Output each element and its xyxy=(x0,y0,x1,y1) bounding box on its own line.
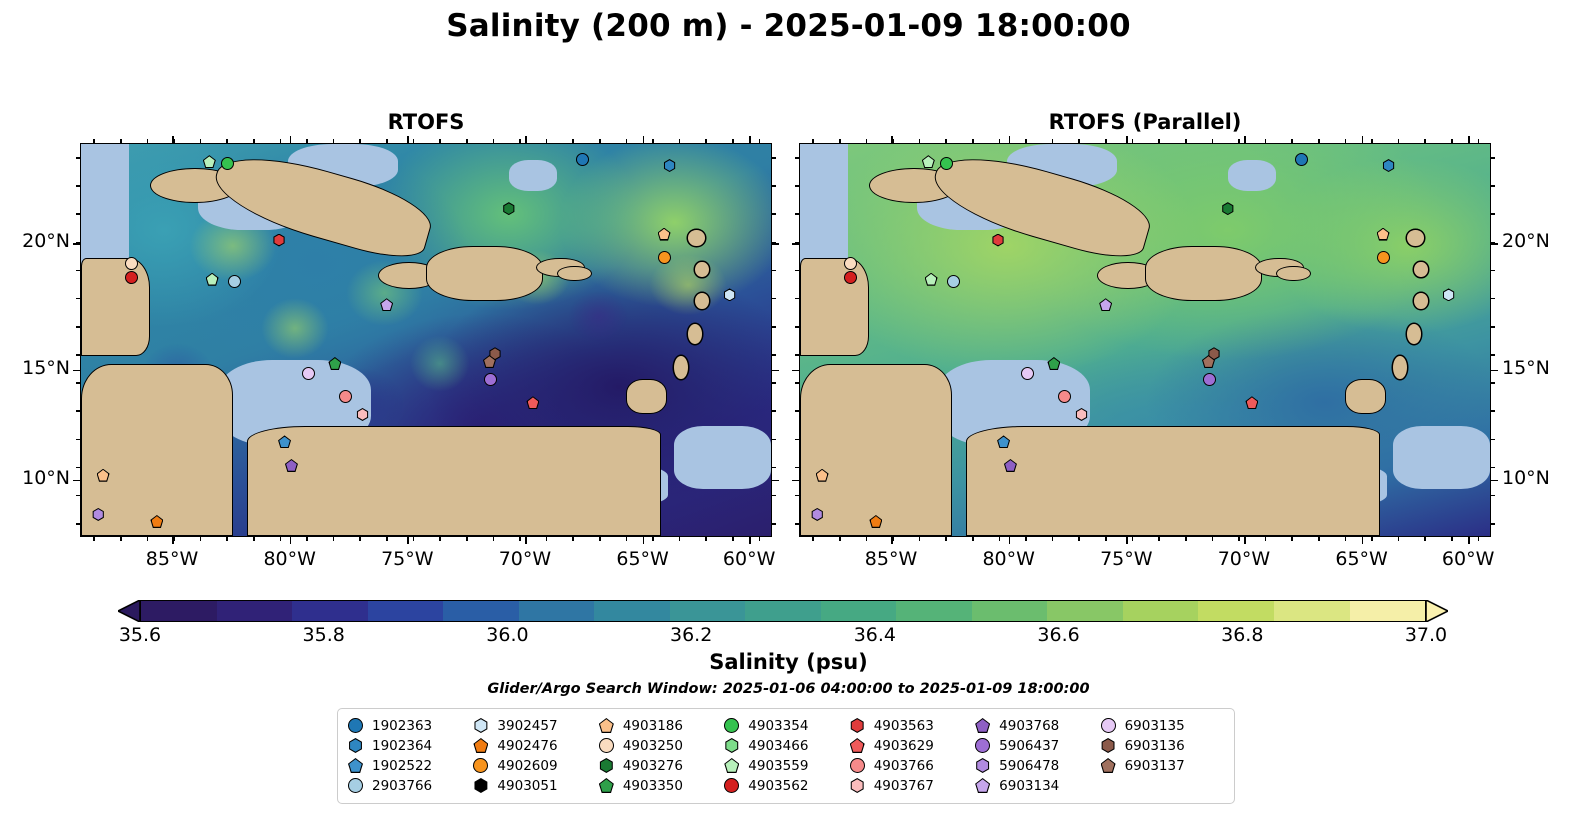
float-marker[interactable] xyxy=(125,271,138,284)
colorbar-tick-label: 36.2 xyxy=(651,624,731,646)
float-marker[interactable] xyxy=(997,435,1010,448)
x-minor-tick xyxy=(1318,139,1320,143)
y-tick xyxy=(73,480,80,482)
x-tick xyxy=(749,136,751,143)
x-tick xyxy=(1244,537,1246,544)
float-marker[interactable] xyxy=(816,469,829,482)
y-tick xyxy=(73,370,80,372)
search-window-caption: Glider/Argo Search Window: 2025-01-06 04… xyxy=(0,681,1577,697)
x-minor-tick xyxy=(1265,139,1267,143)
x-tick xyxy=(1468,537,1470,544)
marker-circle-icon xyxy=(1021,367,1034,380)
x-minor-tick xyxy=(652,537,654,541)
legend-item[interactable]: 4903276 xyxy=(599,756,722,775)
float-marker[interactable] xyxy=(273,234,286,247)
x-minor-tick xyxy=(439,537,441,541)
colorbar-swatch-0 xyxy=(141,601,217,621)
y-minor-tick xyxy=(1491,382,1495,384)
x-minor-tick xyxy=(1398,139,1400,143)
x-tick xyxy=(407,537,409,544)
legend-item[interactable]: 4903629 xyxy=(850,736,973,755)
float-marker[interactable] xyxy=(328,357,341,370)
marker-circle-icon xyxy=(1295,153,1308,166)
marker-pent-icon xyxy=(1203,356,1214,367)
x-minor-tick xyxy=(572,139,574,143)
legend-item[interactable]: 2903766 xyxy=(348,776,471,795)
legend-marker-circle-icon xyxy=(850,758,865,773)
x-minor-tick xyxy=(1078,537,1080,541)
x-tick xyxy=(1009,537,1011,544)
x-minor-tick xyxy=(732,537,734,541)
y-minor-tick xyxy=(76,298,80,300)
legend-item[interactable]: 4903186 xyxy=(599,716,722,735)
x-minor-tick xyxy=(386,139,388,143)
float-marker[interactable] xyxy=(92,508,105,521)
colorbar-tick-label: 36.6 xyxy=(1019,624,1099,646)
x-minor-tick xyxy=(626,139,628,143)
colorbar-extend-high xyxy=(1426,600,1448,622)
float-marker[interactable] xyxy=(947,275,960,288)
legend-marker-hex-icon xyxy=(1101,738,1116,753)
x-minor-tick xyxy=(945,139,947,143)
float-marker[interactable] xyxy=(228,275,241,288)
legend-label: 5906478 xyxy=(999,758,1059,774)
float-marker[interactable] xyxy=(203,155,216,168)
float-marker[interactable] xyxy=(576,153,589,166)
y-minor-tick xyxy=(772,354,776,356)
x-minor-tick xyxy=(200,139,202,143)
legend-item[interactable]: 5906478 xyxy=(975,756,1098,775)
y-minor-tick xyxy=(1491,495,1495,497)
legend-marker-circle-icon xyxy=(473,758,488,773)
y-minor-tick xyxy=(1491,270,1495,272)
float-marker[interactable] xyxy=(206,273,219,286)
x-minor-tick xyxy=(306,139,308,143)
float-marker[interactable] xyxy=(1442,288,1455,301)
legend-item[interactable]: 4903350 xyxy=(599,776,722,795)
marker-circle-icon xyxy=(576,153,589,166)
colorbar-tick-label: 36.0 xyxy=(467,624,547,646)
marker-circle-icon xyxy=(302,367,315,380)
x-minor-tick xyxy=(812,139,814,143)
x-minor-tick xyxy=(1025,537,1027,541)
x-minor-tick xyxy=(1345,139,1347,143)
float-marker[interactable] xyxy=(1382,159,1395,172)
x-minor-tick xyxy=(1105,139,1107,143)
x-minor-tick xyxy=(413,537,415,541)
y-tick xyxy=(1491,370,1498,372)
x-minor-tick xyxy=(1078,139,1080,143)
float-marker[interactable] xyxy=(221,157,234,170)
float-marker[interactable] xyxy=(1004,459,1017,472)
panel-title-right: RTOFS (Parallel) xyxy=(799,110,1491,134)
x-minor-tick xyxy=(280,537,282,541)
marker-pent-icon xyxy=(1100,299,1111,310)
x-minor-tick xyxy=(1158,139,1160,143)
legend-label: 4903276 xyxy=(623,758,683,774)
y-minor-tick xyxy=(76,495,80,497)
legend-item[interactable]: 4903466 xyxy=(724,736,847,755)
float-marker[interactable] xyxy=(1047,357,1060,370)
legend-marker-circle-icon xyxy=(599,738,614,753)
y-tick-label: 10°N xyxy=(0,467,70,489)
x-minor-tick xyxy=(572,537,574,541)
legend-label: 1902363 xyxy=(372,718,432,734)
y-minor-tick xyxy=(1491,157,1495,159)
legend-item[interactable]: 6903134 xyxy=(975,776,1098,795)
legend-item[interactable]: 4902609 xyxy=(473,756,596,775)
colorbar-swatch-1 xyxy=(217,601,293,621)
x-minor-tick xyxy=(333,537,335,541)
y-minor-tick xyxy=(795,354,799,356)
float-marker[interactable] xyxy=(663,159,676,172)
x-minor-tick xyxy=(359,139,361,143)
colorbar-tick-label: 35.8 xyxy=(284,624,364,646)
x-tick xyxy=(1244,136,1246,143)
legend-label: 6903135 xyxy=(1125,718,1185,734)
legend-item[interactable]: 1902364 xyxy=(348,736,471,755)
float-marker-layer-left xyxy=(81,144,771,536)
float-marker[interactable] xyxy=(844,257,857,270)
x-minor-tick xyxy=(253,139,255,143)
x-minor-tick xyxy=(999,537,1001,541)
x-minor-tick xyxy=(386,537,388,541)
x-minor-tick xyxy=(1238,139,1240,143)
float-marker[interactable] xyxy=(844,271,857,284)
x-minor-tick xyxy=(919,139,921,143)
x-minor-tick xyxy=(173,139,175,143)
legend-label: 4903562 xyxy=(748,778,808,794)
x-minor-tick xyxy=(1478,139,1480,143)
colorbar-label: Salinity (psu) xyxy=(0,650,1577,674)
legend-label: 6903136 xyxy=(1125,738,1185,754)
x-minor-tick xyxy=(1371,139,1373,143)
legend-marker-circle-icon xyxy=(348,718,363,733)
float-marker[interactable] xyxy=(356,408,369,421)
map-panel-rtofs-parallel[interactable] xyxy=(799,143,1491,537)
legend-item[interactable]: 4902476 xyxy=(473,736,596,755)
x-tick-label: 80°W xyxy=(235,548,345,570)
y-minor-tick xyxy=(772,326,776,328)
x-minor-tick xyxy=(546,139,548,143)
legend-marker-pent-icon xyxy=(724,758,739,773)
y-minor-tick xyxy=(772,382,776,384)
marker-circle-icon xyxy=(844,257,857,270)
marker-pent-icon xyxy=(528,397,539,408)
legend-label: 1902364 xyxy=(372,738,432,754)
colorbar-gradient xyxy=(140,600,1426,622)
x-tick xyxy=(1362,537,1364,544)
float-marker[interactable] xyxy=(526,396,539,409)
float-marker[interactable] xyxy=(1203,373,1216,386)
float-marker[interactable] xyxy=(1058,390,1071,403)
legend-marker-circle-icon xyxy=(348,778,363,793)
float-marker[interactable] xyxy=(1377,251,1390,264)
x-minor-tick xyxy=(1212,139,1214,143)
x-minor-tick xyxy=(626,537,628,541)
float-marker[interactable] xyxy=(723,288,736,301)
legend-marker-pent-icon xyxy=(473,738,488,753)
x-minor-tick xyxy=(1265,537,1267,541)
x-minor-tick xyxy=(333,139,335,143)
x-tick-label: 75°W xyxy=(352,548,462,570)
x-minor-tick xyxy=(812,537,814,541)
x-minor-tick xyxy=(519,139,521,143)
float-marker[interactable] xyxy=(1202,355,1215,368)
legend-item[interactable]: 6903136 xyxy=(1101,736,1224,755)
x-minor-tick xyxy=(599,139,601,143)
float-marker[interactable] xyxy=(922,155,935,168)
x-minor-tick xyxy=(1291,537,1293,541)
float-marker[interactable] xyxy=(278,435,291,448)
y-minor-tick xyxy=(76,439,80,441)
y-minor-tick xyxy=(1491,523,1495,525)
y-minor-tick xyxy=(1491,326,1495,328)
x-minor-tick xyxy=(306,537,308,541)
colorbar-swatch-12 xyxy=(1047,601,1123,621)
marker-circle-icon xyxy=(339,390,352,403)
float-marker[interactable] xyxy=(658,251,671,264)
legend-item[interactable]: 4903354 xyxy=(724,716,847,735)
y-minor-tick xyxy=(772,523,776,525)
legend-item[interactable]: 4903767 xyxy=(850,776,973,795)
legend-label: 4903563 xyxy=(874,718,934,734)
marker-circle-icon xyxy=(125,257,138,270)
float-marker[interactable] xyxy=(1075,408,1088,421)
y-minor-tick xyxy=(1491,467,1495,469)
x-minor-tick xyxy=(945,537,947,541)
y-tick xyxy=(1491,480,1498,482)
colorbar-tick-label: 36.8 xyxy=(1202,624,1282,646)
marker-pent-icon xyxy=(330,358,341,369)
x-minor-tick xyxy=(599,537,601,541)
marker-circle-icon xyxy=(484,373,497,386)
float-marker[interactable] xyxy=(1377,228,1390,241)
y-minor-tick xyxy=(772,495,776,497)
legend-label: 4903350 xyxy=(623,778,683,794)
x-minor-tick xyxy=(1132,537,1134,541)
legend-marker-pent-icon xyxy=(348,758,363,773)
float-marker[interactable] xyxy=(97,469,110,482)
y-minor-tick xyxy=(76,213,80,215)
colorbar-tick-label: 36.4 xyxy=(835,624,915,646)
y-tick-label: 10°N xyxy=(1502,467,1574,489)
marker-pent-icon xyxy=(98,470,109,481)
y-tick-label: 20°N xyxy=(1502,230,1574,252)
legend-item[interactable]: 4903559 xyxy=(724,756,847,775)
y-minor-tick xyxy=(795,382,799,384)
float-marker[interactable] xyxy=(925,273,938,286)
float-marker[interactable] xyxy=(1021,367,1034,380)
y-minor-tick xyxy=(795,185,799,187)
x-minor-tick xyxy=(466,537,468,541)
x-tick-label: 60°W xyxy=(1413,548,1523,570)
y-minor-tick xyxy=(1491,185,1495,187)
legend-item[interactable]: 4903768 xyxy=(975,716,1098,735)
legend-marker-hex-icon xyxy=(850,778,865,793)
legend-item[interactable]: 4903766 xyxy=(850,756,973,775)
float-marker[interactable] xyxy=(1295,153,1308,166)
legend-label: 5906437 xyxy=(999,738,1059,754)
legend-item[interactable]: 3902457 xyxy=(473,716,596,735)
float-marker[interactable] xyxy=(302,367,315,380)
y-minor-tick xyxy=(772,270,776,272)
x-minor-tick xyxy=(759,139,761,143)
float-marker[interactable] xyxy=(150,515,163,528)
legend-marker-hex-icon xyxy=(599,758,614,773)
legend-item[interactable]: 6903137 xyxy=(1101,756,1224,775)
float-marker[interactable] xyxy=(811,508,824,521)
y-minor-tick xyxy=(795,270,799,272)
legend-grid: 1902363390245749031864903354490356349037… xyxy=(348,716,1224,795)
marker-circle-icon xyxy=(947,275,960,288)
y-minor-tick xyxy=(795,298,799,300)
x-minor-tick xyxy=(1318,537,1320,541)
colorbar-swatch-8 xyxy=(745,601,821,621)
float-marker[interactable] xyxy=(339,390,352,403)
legend-item[interactable]: 4903250 xyxy=(599,736,722,755)
legend-marker-circle-icon xyxy=(1101,718,1116,733)
y-minor-tick xyxy=(76,326,80,328)
legend-label: 4903354 xyxy=(748,718,808,734)
float-marker[interactable] xyxy=(1099,298,1112,311)
marker-circle-icon xyxy=(125,271,138,284)
legend-marker-pent-icon xyxy=(599,718,614,733)
float-marker[interactable] xyxy=(940,157,953,170)
float-marker[interactable] xyxy=(483,355,496,368)
legend-item[interactable]: 4903563 xyxy=(850,716,973,735)
marker-pent-icon xyxy=(871,516,882,527)
colorbar-swatch-5 xyxy=(519,601,595,621)
x-minor-tick xyxy=(1398,537,1400,541)
x-minor-tick xyxy=(226,139,228,143)
marker-circle-icon xyxy=(940,157,953,170)
x-minor-tick xyxy=(1478,537,1480,541)
x-minor-tick xyxy=(1238,537,1240,541)
marker-pent-icon xyxy=(381,299,392,310)
x-minor-tick xyxy=(705,139,707,143)
x-minor-tick xyxy=(1158,537,1160,541)
x-minor-tick xyxy=(546,537,548,541)
x-minor-tick xyxy=(439,139,441,143)
y-tick-label: 15°N xyxy=(0,357,70,379)
y-minor-tick xyxy=(795,523,799,525)
y-minor-tick xyxy=(772,213,776,215)
x-tick xyxy=(290,537,292,544)
y-minor-tick xyxy=(76,410,80,412)
y-tick xyxy=(792,480,799,482)
float-marker[interactable] xyxy=(502,202,515,215)
x-minor-tick xyxy=(705,537,707,541)
x-minor-tick xyxy=(173,537,175,541)
y-minor-tick xyxy=(76,382,80,384)
float-marker[interactable] xyxy=(285,459,298,472)
float-legend[interactable]: 1902363390245749031864903354490356349037… xyxy=(337,708,1235,804)
x-minor-tick xyxy=(493,139,495,143)
figure-root: Salinity (200 m) - 2025-01-09 18:00:00 R… xyxy=(0,0,1577,827)
float-marker[interactable] xyxy=(1221,202,1234,215)
y-tick xyxy=(73,243,80,245)
x-minor-tick xyxy=(120,139,122,143)
map-panel-rtofs[interactable] xyxy=(80,143,772,537)
legend-item[interactable]: 1902522 xyxy=(348,756,471,775)
y-tick xyxy=(1491,243,1498,245)
y-tick-label: 15°N xyxy=(1502,357,1574,379)
y-minor-tick xyxy=(772,439,776,441)
marker-circle-icon xyxy=(221,157,234,170)
legend-marker-hex-icon xyxy=(724,738,739,753)
x-minor-tick xyxy=(147,139,149,143)
legend-item[interactable]: 5906437 xyxy=(975,736,1098,755)
marker-pent-icon xyxy=(923,156,934,167)
y-tick xyxy=(792,243,799,245)
float-marker[interactable] xyxy=(658,228,671,241)
float-marker[interactable] xyxy=(380,298,393,311)
x-tick-label: 70°W xyxy=(1189,548,1299,570)
y-tick xyxy=(772,370,779,372)
x-minor-tick xyxy=(972,139,974,143)
legend-item[interactable]: 4903562 xyxy=(724,776,847,795)
legend-label: 3902457 xyxy=(497,718,557,734)
y-tick xyxy=(772,243,779,245)
float-marker[interactable] xyxy=(869,515,882,528)
colorbar[interactable]: 35.635.836.036.236.436.636.837.0 xyxy=(118,600,1448,622)
marker-pent-icon xyxy=(1005,460,1016,471)
marker-circle-icon xyxy=(658,251,671,264)
x-tick xyxy=(749,537,751,544)
x-minor-tick xyxy=(359,537,361,541)
marker-pent-icon xyxy=(204,156,215,167)
y-minor-tick xyxy=(1491,410,1495,412)
legend-item[interactable]: 1902363 xyxy=(348,716,471,735)
marker-pent-icon xyxy=(152,516,163,527)
x-minor-tick xyxy=(93,139,95,143)
legend-item[interactable]: 6903135 xyxy=(1101,716,1224,735)
legend-marker-circle-icon xyxy=(724,778,739,793)
legend-label: 6903134 xyxy=(999,778,1059,794)
marker-pent-icon xyxy=(279,437,290,448)
x-minor-tick xyxy=(1052,537,1054,541)
x-minor-tick xyxy=(679,139,681,143)
float-marker[interactable] xyxy=(125,257,138,270)
y-minor-tick xyxy=(1491,439,1495,441)
marker-pent-icon xyxy=(817,470,828,481)
colorbar-swatch-9 xyxy=(821,601,897,621)
x-minor-tick xyxy=(493,537,495,541)
y-minor-tick xyxy=(76,523,80,525)
float-marker[interactable] xyxy=(992,234,1005,247)
marker-pent-icon xyxy=(207,274,218,285)
x-minor-tick xyxy=(892,537,894,541)
x-minor-tick xyxy=(1025,139,1027,143)
x-tick-label: 85°W xyxy=(836,548,946,570)
x-minor-tick xyxy=(1185,139,1187,143)
x-minor-tick xyxy=(1424,139,1426,143)
x-minor-tick xyxy=(866,537,868,541)
legend-marker-hex-icon xyxy=(473,778,488,793)
x-minor-tick xyxy=(732,139,734,143)
x-tick-label: 85°W xyxy=(117,548,227,570)
y-minor-tick xyxy=(1491,213,1495,215)
legend-item xyxy=(1101,776,1224,795)
x-minor-tick xyxy=(1424,537,1426,541)
float-marker[interactable] xyxy=(1245,396,1258,409)
x-minor-tick xyxy=(413,139,415,143)
marker-circle-icon xyxy=(1058,390,1071,403)
legend-marker-hex-icon xyxy=(975,758,990,773)
float-marker[interactable] xyxy=(484,373,497,386)
legend-item[interactable]: 4903051 xyxy=(473,776,596,795)
